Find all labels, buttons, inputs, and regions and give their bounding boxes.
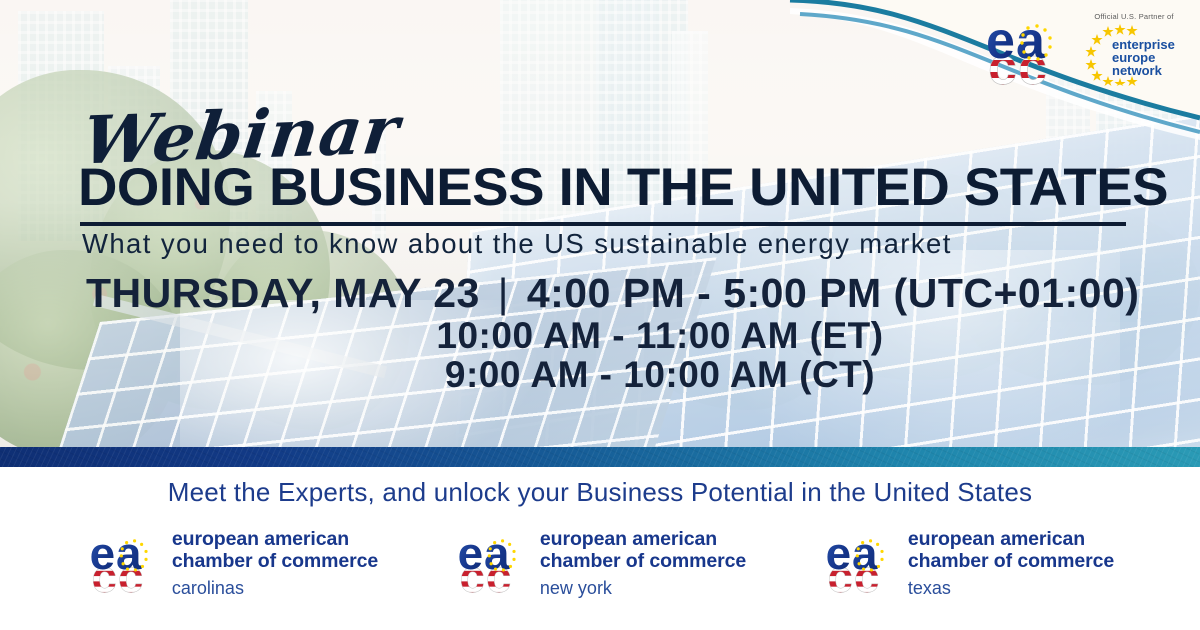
svg-text:e: e <box>458 528 483 579</box>
svg-text:a: a <box>484 528 510 579</box>
footer: Meet the Experts, and unlock your Busine… <box>0 467 1200 630</box>
eacc-city-carolinas: carolinas <box>172 578 378 599</box>
eacc-name-line1: european american <box>172 529 378 551</box>
svg-text:e: e <box>90 528 115 579</box>
eacc-city-new-york: new york <box>540 578 746 599</box>
eacc-name-line2: chamber of commerce <box>540 551 746 573</box>
eacc-name-line2: chamber of commerce <box>172 551 378 573</box>
eacc-logo-icon: c c e a <box>86 525 162 599</box>
event-time-utc: 4:00 PM - 5:00 PM (UTC+01:00) <box>527 270 1140 316</box>
eacc-wordmark: european american chamber of commerce ca… <box>172 525 378 599</box>
hero-banner: c c e a Official U.S. Partner of <box>0 0 1200 447</box>
eacc-wordmark: european american chamber of commerce ne… <box>540 525 746 599</box>
event-date: THURSDAY, MAY 23 <box>86 270 480 316</box>
eacc-city-texas: texas <box>908 578 1114 599</box>
schedule-line-primary: THURSDAY, MAY 23 | 4:00 PM - 5:00 PM (UT… <box>0 272 1200 316</box>
eacc-name-line1: european american <box>540 529 746 551</box>
eacc-name-line1: european american <box>908 529 1114 551</box>
svg-text:e: e <box>826 528 851 579</box>
webinar-promo-poster: c c e a Official U.S. Partner of <box>0 0 1200 630</box>
eacc-logo-new-york: c c e a european american chamber of com… <box>454 525 746 599</box>
hero-text-block: Webinar DOING BUSINESS IN THE UNITED STA… <box>0 0 1200 447</box>
title-underline-rule <box>80 222 1126 226</box>
eacc-logo-carolinas: c c e a european american chamber of com… <box>86 525 378 599</box>
subtitle: What you need to know about the US susta… <box>82 228 1130 260</box>
chapter-logo-row: c c e a european american chamber of com… <box>0 525 1200 599</box>
page-title: DOING BUSINESS IN THE UNITED STATES <box>78 163 1160 213</box>
svg-text:a: a <box>852 528 878 579</box>
date-time-separator: | <box>492 272 515 316</box>
eacc-name-line2: chamber of commerce <box>908 551 1114 573</box>
event-time-ct: 9:00 AM - 10:00 AM (CT) <box>0 355 1200 395</box>
eacc-logo-icon: c c e a <box>454 525 530 599</box>
footer-tagline: Meet the Experts, and unlock your Busine… <box>0 477 1200 508</box>
event-time-et: 10:00 AM - 11:00 AM (ET) <box>0 316 1200 356</box>
svg-text:a: a <box>116 528 142 579</box>
schedule-block: THURSDAY, MAY 23 | 4:00 PM - 5:00 PM (UT… <box>0 272 1200 395</box>
eacc-logo-texas: c c e a european american chamber of com… <box>822 525 1114 599</box>
gradient-divider-band <box>0 447 1200 467</box>
eacc-wordmark: european american chamber of commerce te… <box>908 525 1114 599</box>
eacc-logo-icon: c c e a <box>822 525 898 599</box>
